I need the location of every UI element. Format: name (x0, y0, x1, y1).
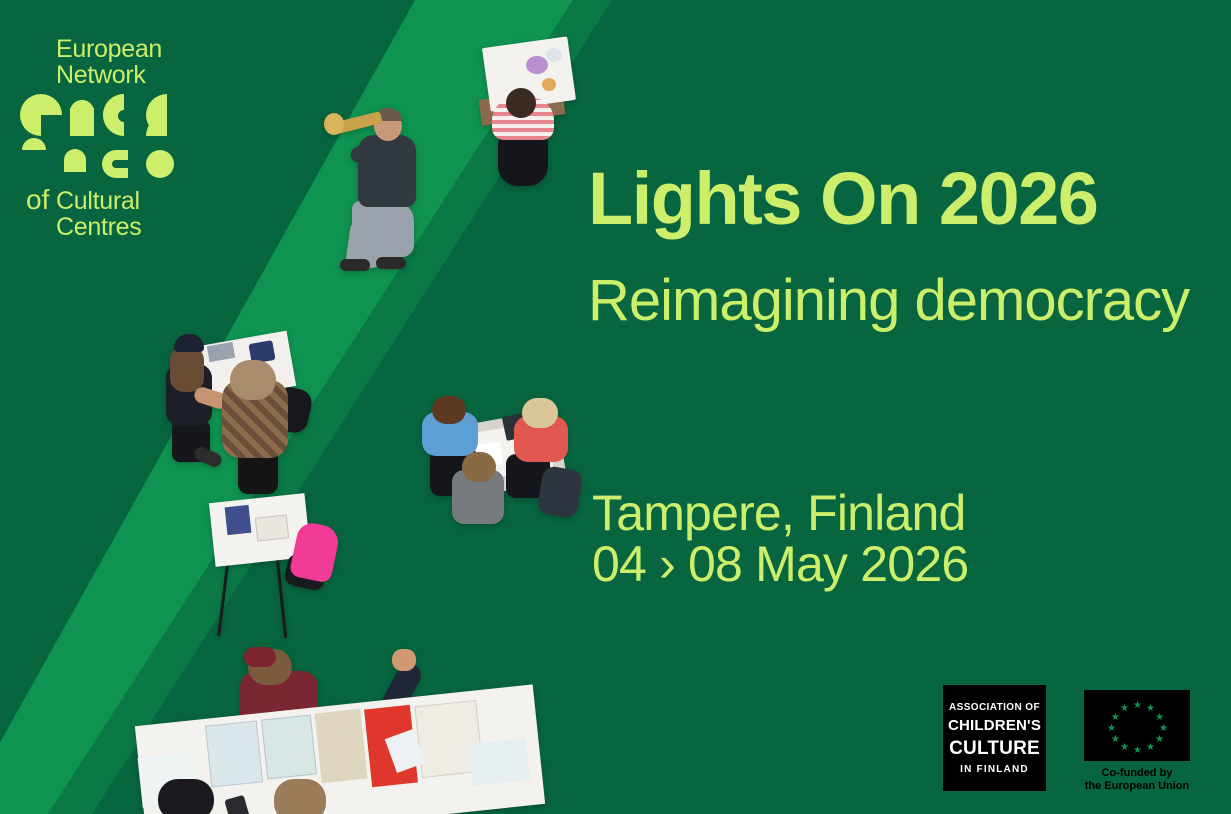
page-title: Lights On 2026 (588, 160, 1097, 238)
accl-line-1: ASSOCIATION OF (949, 702, 1040, 713)
book-person-a-cap (244, 647, 276, 667)
accl-line-2: CHILDREN'S (948, 717, 1041, 734)
trumpeter-shoe-right (376, 257, 406, 269)
meeting-person-c-hair (462, 452, 496, 482)
meeting-floor-bag (536, 465, 584, 519)
publication-5 (468, 738, 530, 786)
eu-flag-icon: ★ ★ ★ ★ ★ ★ ★ ★ ★ ★ ★ ★ (1084, 690, 1190, 761)
trumpeter-legs (352, 201, 414, 257)
encc-logo-bottom-words: Cultural Centres (56, 188, 141, 240)
bowl-orange (542, 78, 556, 91)
table-leaflet-2 (255, 514, 289, 541)
person-a-hair (170, 346, 204, 392)
accl-line-4: IN FINLAND (960, 764, 1029, 775)
photo-woman-at-table (480, 42, 580, 187)
photo-meeting-group (418, 392, 578, 542)
book-person-b-hand (392, 649, 416, 671)
table-leaflet-1 (225, 505, 252, 535)
eu-cofunded-logo[interactable]: ★ ★ ★ ★ ★ ★ ★ ★ ★ ★ ★ ★ Co-funded by the… (1084, 690, 1190, 790)
person-a-hat (174, 334, 204, 352)
encc-logo[interactable]: European Network (20, 36, 220, 236)
book-person-d-hair (274, 779, 326, 814)
eu-caption-line-2: the European Union (1084, 780, 1190, 793)
plate-white (546, 48, 562, 62)
meeting-person-b-hair (522, 398, 558, 428)
encc-logo-word-of: of (26, 186, 49, 214)
encc-logo-line-centres: Centres (56, 214, 141, 240)
encc-logo-line-cultural: Cultural (56, 188, 141, 214)
eu-caption: Co-funded by the European Union (1084, 767, 1190, 793)
publication-2 (261, 715, 317, 780)
accl-line-3: CULTURE (949, 738, 1040, 760)
table-leg-left (217, 558, 229, 636)
encc-logo-line-network: Network (56, 62, 162, 88)
seated-person-head (506, 88, 536, 118)
poster-canvas: European Network (0, 0, 1231, 814)
encc-wordmark-icon (20, 94, 188, 178)
person-b-hair (230, 360, 276, 400)
seated-person-legs (498, 134, 548, 186)
page-subtitle: Reimagining democracy (588, 270, 1189, 332)
trumpet-bell (324, 113, 344, 135)
eu-caption-line-1: Co-funded by (1084, 767, 1190, 780)
publication-3 (314, 709, 367, 783)
book-person-c-hair (158, 779, 214, 814)
photo-book-table-group (140, 645, 540, 814)
photo-two-people-display-table (150, 330, 330, 640)
event-dates: 04 › 08 May 2026 (592, 538, 968, 590)
person-a-shoe (192, 445, 223, 469)
meeting-person-a-hair (432, 396, 466, 424)
encc-logo-top-words: European Network (56, 36, 162, 88)
trumpeter-shoe-left (340, 259, 370, 271)
event-location: Tampere, Finland (592, 488, 966, 538)
photo-trumpet-player (330, 105, 430, 275)
publication-1 (205, 720, 263, 787)
plate-purple (526, 56, 548, 74)
encc-logo-line-european: European (56, 36, 162, 62)
association-childrens-culture-logo[interactable]: ASSOCIATION OF CHILDREN'S CULTURE IN FIN… (943, 685, 1046, 791)
